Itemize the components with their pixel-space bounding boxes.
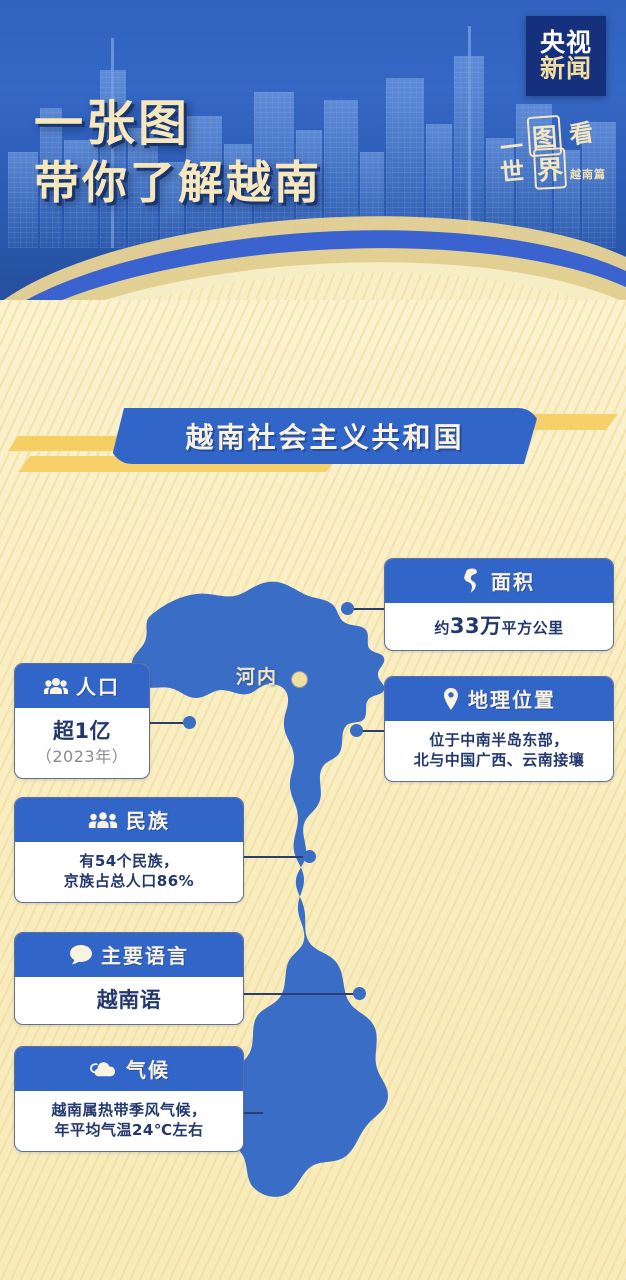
info-card-climate[interactable]: 气候 越南属热带季风气候， 年平均气温24℃左右: [14, 1046, 244, 1152]
card-body-climate: 越南属热带季风气候， 年平均气温24℃左右: [15, 1091, 243, 1151]
card-header-ethnic: 民族: [15, 798, 243, 842]
card-body-geography: 位于中南半岛东部， 北与中国广西、云南接壤: [385, 721, 613, 781]
card-title-geography: 地理位置: [468, 684, 556, 713]
infographic-poster: 一张图 带你了解越南 央视 新闻 一 图 看 世 界 越南篇 越南社会主义共和国…: [0, 0, 626, 1280]
area-value-number: 33万: [450, 614, 502, 638]
card-header-climate: 气候: [15, 1047, 243, 1091]
cctv-logo-line2: 新闻: [540, 56, 592, 82]
ethnic-line1: 有54个民族，: [25, 851, 233, 871]
connector-node-population: [183, 716, 196, 729]
section-banner: 越南社会主义共和国: [0, 394, 626, 480]
info-card-language[interactable]: 主要语言 越南语: [14, 932, 244, 1025]
info-card-area[interactable]: 面积 约33万平方公里: [384, 558, 614, 651]
page-title-line1: 一张图: [34, 96, 322, 152]
header-hero: 一张图 带你了解越南 央视 新闻 一 图 看 世 界 越南篇: [0, 0, 626, 300]
area-value-prefix: 约: [434, 619, 450, 637]
population-note: （2023年）: [25, 746, 139, 768]
cloud-icon: [88, 1059, 118, 1079]
card-title-language: 主要语言: [101, 940, 189, 969]
card-header-language: 主要语言: [15, 933, 243, 977]
vietnam-map-icon: [463, 568, 483, 594]
people-icon: [44, 676, 68, 696]
card-body-population: 超1亿 （2023年）: [15, 708, 149, 778]
series-logo-subtitle: 越南篇: [570, 166, 606, 182]
connector-node-language: [353, 987, 366, 1000]
connector-ethnic: [242, 856, 310, 858]
geography-line1: 位于中南半岛东部，: [395, 730, 603, 750]
page-title-line2: 带你了解越南: [34, 157, 322, 208]
cctv-logo-line1: 央视: [540, 30, 592, 56]
card-header-area: 面积: [385, 559, 613, 603]
banner-title: 越南社会主义共和国: [185, 416, 464, 456]
card-body-language: 越南语: [15, 977, 243, 1024]
banner-main: 越南社会主义共和国: [110, 408, 540, 464]
info-card-ethnic[interactable]: 民族 有54个民族， 京族占总人口86%: [14, 797, 244, 903]
card-title-ethnic: 民族: [126, 805, 170, 834]
card-title-area: 面积: [491, 566, 535, 595]
card-header-geography: 地理位置: [385, 677, 613, 721]
geography-line2: 北与中国广西、云南接壤: [395, 750, 603, 770]
card-title-climate: 气候: [126, 1054, 170, 1083]
series-logo-char-3: 看: [566, 112, 595, 150]
series-logo: 一 图 看 世 界 越南篇: [494, 112, 610, 190]
card-body-ethnic: 有54个民族， 京族占总人口86%: [15, 842, 243, 902]
page-title: 一张图 带你了解越南: [34, 96, 322, 208]
card-header-population: 人口: [15, 664, 149, 708]
climate-line2: 年平均气温24℃左右: [25, 1120, 233, 1140]
cctv-news-logo: 央视 新闻: [526, 16, 606, 96]
series-logo-char-5: 界: [533, 147, 567, 190]
language-value: 越南语: [97, 988, 162, 1012]
climate-line1: 越南属热带季风气候，: [25, 1100, 233, 1120]
population-value: 超1亿: [53, 719, 111, 743]
card-title-population: 人口: [76, 671, 120, 700]
connector-node-climate: [263, 1106, 276, 1119]
area-value-suffix: 平方公里: [502, 619, 564, 637]
info-card-population[interactable]: 人口 超1亿 （2023年）: [14, 663, 150, 779]
card-body-area: 约33万平方公里: [385, 603, 613, 650]
series-logo-char-4: 世: [499, 151, 526, 188]
connector-node-ethnic: [303, 850, 316, 863]
connector-node-geography: [350, 724, 363, 737]
group-people-icon: [88, 810, 118, 830]
connector-language: [242, 993, 360, 995]
connector-node-area: [341, 602, 354, 615]
capital-label: 河内: [236, 662, 278, 689]
capital-marker-dot: [292, 672, 307, 687]
location-pin-icon: [442, 687, 460, 711]
info-card-geography[interactable]: 地理位置 位于中南半岛东部， 北与中国广西、云南接壤: [384, 676, 614, 782]
speech-bubble-icon: [69, 944, 93, 965]
ethnic-line2: 京族占总人口86%: [25, 871, 233, 891]
